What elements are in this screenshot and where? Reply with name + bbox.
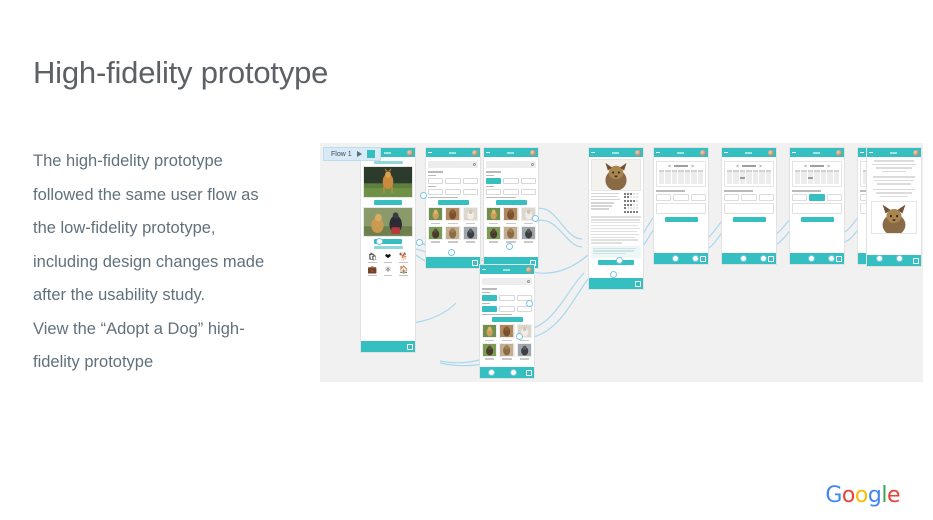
connector-handle[interactable] bbox=[448, 249, 455, 256]
body-line: after the usability study. bbox=[33, 279, 318, 313]
chip bbox=[463, 189, 478, 195]
share-icon[interactable] bbox=[913, 258, 919, 264]
prev-month-icon[interactable]: ◀ bbox=[667, 164, 670, 168]
hamburger-icon[interactable] bbox=[656, 151, 660, 155]
age-filter-chips[interactable] bbox=[486, 189, 536, 195]
dog-card[interactable] bbox=[503, 207, 518, 224]
share-icon[interactable] bbox=[836, 256, 842, 262]
time-slots[interactable] bbox=[656, 194, 706, 201]
chip bbox=[445, 189, 460, 195]
hamburger-icon[interactable] bbox=[428, 151, 432, 155]
make-appointment-button[interactable] bbox=[733, 217, 766, 222]
flow-label: Flow 1 bbox=[331, 151, 352, 158]
body-line: followed the same user flow as bbox=[33, 179, 318, 213]
date-picker[interactable]: ◀▶ bbox=[792, 161, 842, 187]
attribute-ratings bbox=[624, 193, 641, 215]
logo-letter: o bbox=[842, 483, 855, 508]
search-body bbox=[480, 274, 534, 367]
connector-handle[interactable] bbox=[516, 333, 523, 340]
size-filter-chips[interactable] bbox=[482, 295, 532, 301]
filter-subgroup-label bbox=[482, 292, 490, 294]
apply-filters-button[interactable] bbox=[438, 200, 469, 205]
week-row[interactable] bbox=[659, 182, 703, 185]
screen-calendar-a[interactable]: ◀▶ bbox=[653, 147, 709, 265]
help-item[interactable]: 🛍 bbox=[366, 253, 379, 263]
help-item[interactable]: 🏠 bbox=[397, 266, 410, 276]
notes-field[interactable] bbox=[656, 203, 706, 214]
app-title bbox=[384, 152, 391, 154]
play-icon[interactable] bbox=[357, 151, 362, 157]
app-title bbox=[890, 152, 897, 154]
share-icon[interactable] bbox=[472, 260, 478, 266]
avatar[interactable] bbox=[836, 150, 842, 156]
hamburger-icon[interactable] bbox=[869, 151, 873, 155]
chip bbox=[499, 295, 514, 301]
shopping-bag-icon: 🛍 bbox=[368, 253, 378, 261]
dog-card[interactable] bbox=[499, 343, 514, 360]
connector-handle[interactable] bbox=[760, 255, 767, 262]
time-slots[interactable] bbox=[792, 194, 842, 201]
home-heading bbox=[374, 161, 403, 164]
filter-group-label bbox=[486, 171, 501, 173]
prev-month-icon[interactable]: ◀ bbox=[735, 164, 738, 168]
dog-card[interactable] bbox=[521, 226, 536, 243]
age-filter-chips[interactable] bbox=[428, 189, 478, 195]
share-icon[interactable] bbox=[768, 256, 774, 262]
time-slot bbox=[673, 194, 688, 201]
filter-group-label bbox=[428, 171, 443, 173]
hamburger-icon[interactable] bbox=[860, 151, 864, 155]
month-label bbox=[742, 165, 757, 167]
dog-walk-icon: 🐕 bbox=[399, 253, 408, 261]
screen-home[interactable]: 🛍 ❤ 🐕 💼 ⚛ 🏠 bbox=[360, 147, 416, 353]
help-item[interactable]: ❤ bbox=[382, 253, 395, 263]
avatar[interactable] bbox=[913, 150, 919, 156]
connector-handle[interactable] bbox=[896, 255, 903, 262]
help-item[interactable]: 🐕 bbox=[397, 253, 410, 263]
time-slot bbox=[759, 194, 774, 201]
connector-handle[interactable] bbox=[876, 255, 883, 262]
date-picker[interactable]: ◀▶ bbox=[656, 161, 706, 187]
dog-card[interactable] bbox=[482, 324, 497, 341]
flow-badge[interactable]: Flow 1 bbox=[323, 147, 381, 161]
dog-card[interactable] bbox=[463, 226, 478, 243]
screen-calendar-c[interactable]: ◀▶ bbox=[789, 147, 845, 265]
connector-handle[interactable] bbox=[616, 257, 623, 264]
connector-handle[interactable] bbox=[610, 271, 617, 278]
avatar[interactable] bbox=[407, 150, 413, 156]
size-filter-chips[interactable] bbox=[486, 178, 536, 184]
slide-root: High-fidelity prototype The high-fidelit… bbox=[0, 0, 933, 520]
app-title bbox=[813, 152, 820, 154]
body-copy: The high-fidelity prototype followed the… bbox=[33, 145, 318, 380]
alert-note bbox=[591, 246, 641, 258]
app-title bbox=[507, 152, 514, 154]
make-appointment-button[interactable] bbox=[665, 217, 698, 222]
dog-card[interactable] bbox=[486, 226, 501, 243]
time-slot bbox=[724, 194, 739, 201]
chip bbox=[428, 178, 443, 184]
time-section-label bbox=[656, 190, 685, 192]
confirm-body bbox=[867, 157, 921, 255]
time-slot bbox=[827, 194, 842, 201]
results-count-label bbox=[482, 314, 512, 316]
bottom-bar bbox=[361, 341, 415, 352]
hamburger-icon[interactable] bbox=[591, 151, 595, 155]
dog-card[interactable] bbox=[499, 324, 514, 341]
dog-card[interactable] bbox=[463, 207, 478, 224]
flow-color-swatch bbox=[367, 150, 375, 158]
search-input[interactable] bbox=[486, 161, 536, 168]
week-row[interactable] bbox=[795, 182, 839, 185]
apply-filters-button[interactable] bbox=[496, 200, 527, 205]
connector-handle[interactable] bbox=[828, 255, 835, 262]
prototype-canvas[interactable]: Flow 1 iPhone 8 Plus bbox=[320, 143, 923, 382]
search-icon bbox=[527, 280, 530, 283]
dog-card[interactable] bbox=[486, 207, 501, 224]
prev-month-icon[interactable]: ◀ bbox=[803, 164, 806, 168]
confirm-dog-photo bbox=[871, 201, 917, 234]
share-icon[interactable] bbox=[407, 344, 413, 350]
hamburger-icon[interactable] bbox=[486, 151, 490, 155]
app-title bbox=[503, 269, 510, 271]
logo-letter: g bbox=[868, 483, 881, 508]
page-title: High-fidelity prototype bbox=[33, 55, 328, 91]
results-grid bbox=[482, 324, 532, 359]
chip bbox=[503, 178, 518, 184]
screen-confirm[interactable] bbox=[866, 147, 922, 267]
hamburger-icon[interactable] bbox=[482, 268, 486, 272]
time-slot-selected bbox=[809, 194, 824, 201]
find-button[interactable] bbox=[374, 200, 402, 205]
dog-card[interactable] bbox=[482, 343, 497, 360]
time-slot bbox=[656, 194, 671, 201]
results-count-label bbox=[428, 197, 458, 199]
chip bbox=[445, 178, 460, 184]
search-icon bbox=[531, 163, 534, 166]
app-title bbox=[449, 152, 456, 154]
heart-icon: ❤ bbox=[385, 253, 391, 261]
time-section-label bbox=[724, 190, 753, 192]
filter-subgroup-label bbox=[428, 186, 436, 188]
search-icon bbox=[473, 163, 476, 166]
filter-group-label bbox=[482, 288, 497, 290]
size-filter-chips[interactable] bbox=[428, 178, 478, 184]
next-month-icon[interactable]: ▶ bbox=[691, 164, 694, 168]
chip bbox=[463, 178, 478, 184]
app-title bbox=[745, 152, 752, 154]
logo-letter: e bbox=[887, 483, 900, 508]
avatar[interactable] bbox=[635, 150, 641, 156]
time-slot bbox=[691, 194, 706, 201]
connector-handle[interactable] bbox=[506, 243, 513, 250]
help-item[interactable]: ⚛ bbox=[382, 266, 395, 276]
time-slot bbox=[741, 194, 756, 201]
connector-handle[interactable] bbox=[692, 255, 699, 262]
home-body: 🛍 ❤ 🐕 💼 ⚛ 🏠 bbox=[361, 157, 415, 341]
chip bbox=[486, 189, 501, 195]
dog-card[interactable] bbox=[517, 343, 532, 360]
avatar[interactable] bbox=[472, 150, 478, 156]
screen-detail[interactable] bbox=[588, 147, 644, 290]
time-slots[interactable] bbox=[724, 194, 774, 201]
description-paragraph bbox=[591, 216, 641, 243]
dog-card[interactable] bbox=[428, 207, 443, 224]
connector-handle[interactable] bbox=[420, 192, 427, 199]
results-grid bbox=[486, 207, 536, 242]
connector-handle[interactable] bbox=[808, 255, 815, 262]
body-line: View the “Adopt a Dog” high- bbox=[33, 313, 318, 347]
chip bbox=[521, 178, 536, 184]
connector-handle[interactable] bbox=[526, 300, 533, 307]
hamburger-icon[interactable] bbox=[792, 151, 796, 155]
results-grid bbox=[428, 207, 478, 242]
body-line: The high-fidelity prototype bbox=[33, 145, 318, 179]
search-body bbox=[484, 157, 538, 257]
logo-letter: o bbox=[855, 483, 868, 508]
connector-handle[interactable] bbox=[416, 239, 423, 246]
chip-selected bbox=[482, 306, 497, 312]
make-appointment-button[interactable] bbox=[801, 217, 834, 222]
time-slot bbox=[792, 194, 807, 201]
hero-photo-person-dog bbox=[363, 207, 413, 237]
dog-card[interactable] bbox=[428, 226, 443, 243]
share-icon[interactable] bbox=[635, 281, 641, 287]
home-icon: 🏠 bbox=[399, 266, 408, 274]
calendar-body: ◀▶ bbox=[790, 157, 844, 253]
share-icon[interactable] bbox=[700, 256, 706, 262]
filter-subgroup-label bbox=[428, 175, 436, 177]
next-month-icon[interactable]: ▶ bbox=[827, 164, 830, 168]
share-icon[interactable] bbox=[526, 370, 532, 376]
screen-search-c[interactable] bbox=[479, 264, 535, 379]
dog-card[interactable] bbox=[503, 226, 518, 243]
calendar-body: ◀▶ bbox=[722, 157, 776, 253]
app-title bbox=[612, 152, 619, 154]
notes-field[interactable] bbox=[724, 203, 774, 214]
connector-handle[interactable] bbox=[376, 238, 383, 245]
google-logo: Google bbox=[825, 483, 900, 508]
screen-calendar-b[interactable]: ◀▶ bbox=[721, 147, 777, 265]
connector-handle[interactable] bbox=[672, 255, 679, 262]
avatar[interactable] bbox=[530, 150, 536, 156]
connector-handle[interactable] bbox=[510, 369, 517, 376]
chip bbox=[428, 189, 443, 195]
chip bbox=[499, 306, 514, 312]
app-title bbox=[677, 152, 684, 154]
chip bbox=[503, 189, 518, 195]
how-to-help-heading bbox=[374, 246, 403, 249]
calendar-body: ◀▶ bbox=[654, 157, 708, 253]
chip bbox=[521, 189, 536, 195]
avatar[interactable] bbox=[526, 267, 532, 273]
next-month-icon[interactable]: ▶ bbox=[759, 164, 762, 168]
date-picker[interactable]: ◀▶ bbox=[724, 161, 774, 187]
chip-selected bbox=[486, 178, 501, 184]
week-row[interactable] bbox=[727, 182, 771, 185]
filter-subgroup-label bbox=[486, 186, 494, 188]
age-filter-chips[interactable] bbox=[482, 306, 532, 312]
screen-search-b[interactable] bbox=[483, 147, 539, 269]
results-count-label bbox=[486, 197, 516, 199]
attribute-labels bbox=[591, 193, 621, 215]
connector-handle[interactable] bbox=[740, 255, 747, 262]
filter-subgroup-label bbox=[482, 303, 490, 305]
dog-card[interactable] bbox=[445, 226, 460, 243]
search-body bbox=[426, 157, 480, 257]
hamburger-icon[interactable] bbox=[724, 151, 728, 155]
hero-photo-dog-running bbox=[363, 166, 413, 198]
briefcase-icon: 💼 bbox=[368, 266, 377, 274]
search-input[interactable] bbox=[482, 278, 532, 285]
body-line: including design changes made bbox=[33, 246, 318, 280]
month-label bbox=[674, 165, 689, 167]
chip-selected bbox=[482, 295, 497, 301]
avatar[interactable] bbox=[768, 150, 774, 156]
paw-icon: ⚛ bbox=[385, 266, 392, 274]
connector-handle[interactable] bbox=[532, 215, 539, 222]
dog-portrait bbox=[591, 159, 641, 191]
apply-filters-button[interactable] bbox=[492, 317, 523, 322]
logo-letter: G bbox=[825, 483, 842, 508]
help-item[interactable]: 💼 bbox=[366, 266, 379, 276]
attributes-table bbox=[591, 193, 641, 215]
help-icon-grid: 🛍 ❤ 🐕 💼 ⚛ 🏠 bbox=[363, 251, 413, 279]
body-line: fidelity prototype bbox=[33, 346, 318, 380]
time-section-label bbox=[792, 190, 821, 192]
dog-card[interactable] bbox=[445, 207, 460, 224]
avatar[interactable] bbox=[700, 150, 706, 156]
body-line: the low-fidelity prototype, bbox=[33, 212, 318, 246]
filter-subgroup-label bbox=[486, 175, 494, 177]
connector-handle[interactable] bbox=[488, 369, 495, 376]
notes-field[interactable] bbox=[792, 203, 842, 214]
month-label bbox=[810, 165, 825, 167]
search-input[interactable] bbox=[428, 161, 478, 168]
